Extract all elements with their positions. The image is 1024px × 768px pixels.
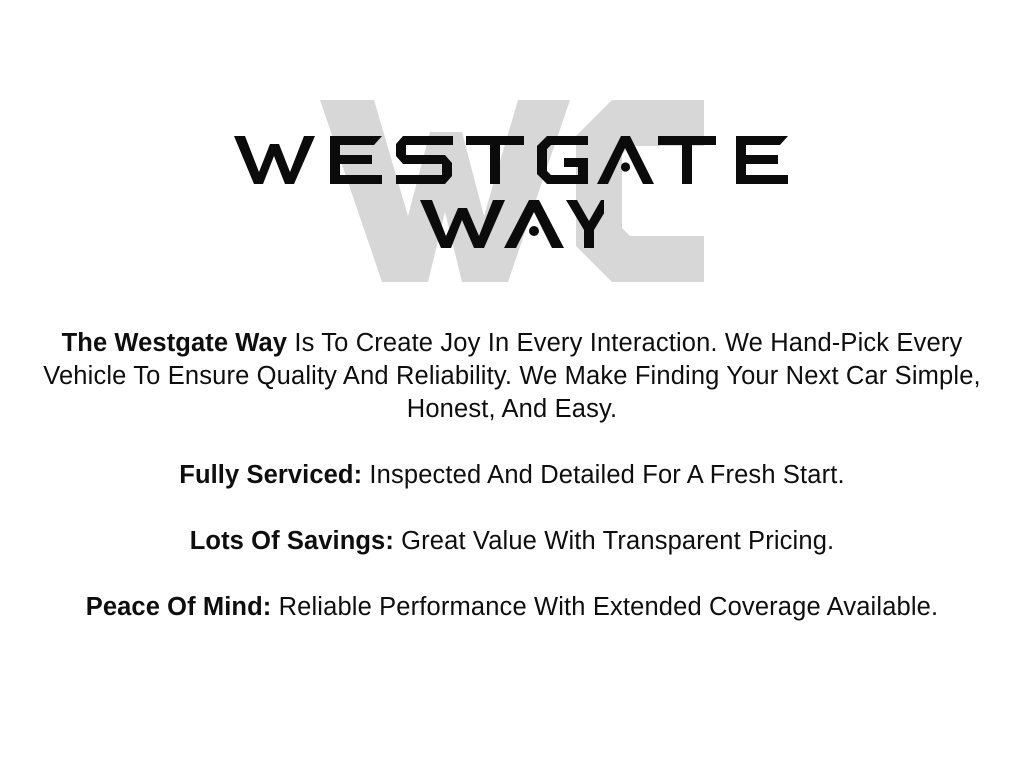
- spacer: [22, 558, 1002, 591]
- spacer: [22, 492, 1002, 525]
- feature-fully-serviced: Fully Serviced: Inspected And Detailed F…: [22, 459, 1002, 492]
- feature-peace-of-mind: Peace Of Mind: Reliable Performance With…: [22, 591, 1002, 624]
- brand-logo: [0, 96, 1024, 296]
- feature-lots-of-savings-label: Lots Of Savings:: [190, 527, 394, 555]
- feature-lots-of-savings-text: Great Value With Transparent Pricing.: [394, 527, 834, 555]
- body-copy: The Westgate Way Is To Create Joy In Eve…: [0, 327, 1024, 624]
- brand-wordmark-way: [0, 198, 1024, 250]
- feature-peace-of-mind-label: Peace Of Mind:: [86, 593, 272, 621]
- feature-peace-of-mind-text: Reliable Performance With Extended Cover…: [271, 593, 938, 621]
- intro-paragraph: The Westgate Way Is To Create Joy In Eve…: [22, 327, 1002, 426]
- brand-wordmark: [0, 96, 1024, 250]
- spacer: [22, 426, 1002, 459]
- feature-fully-serviced-text: Inspected And Detailed For A Fresh Start…: [362, 461, 845, 489]
- brand-wordmark-westgate: [0, 134, 1024, 186]
- feature-lots-of-savings: Lots Of Savings: Great Value With Transp…: [22, 525, 1002, 558]
- feature-fully-serviced-label: Fully Serviced:: [179, 461, 362, 489]
- intro-lead: The Westgate Way: [62, 329, 287, 357]
- slide-canvas: The Westgate Way Is To Create Joy In Eve…: [0, 0, 1024, 768]
